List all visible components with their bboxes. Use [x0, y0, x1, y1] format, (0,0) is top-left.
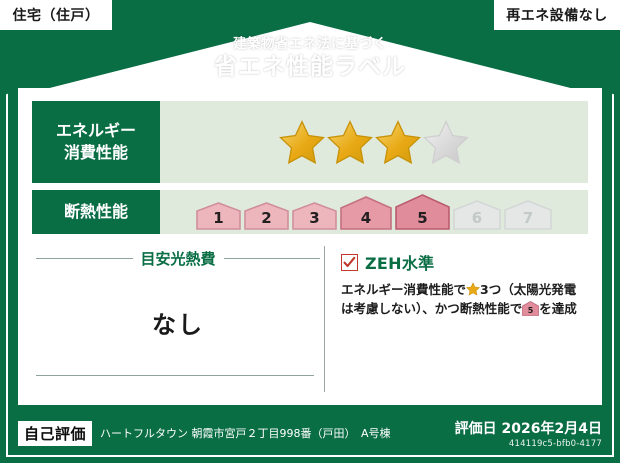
insulation-level-2: 2: [244, 202, 289, 230]
rule-left: [36, 258, 133, 259]
zeh-heading-row: ZEH水準: [341, 250, 584, 274]
page-title: 省エネ性能ラベル: [0, 53, 620, 82]
utility-cost-panel: 目安光熱費 なし: [32, 244, 324, 394]
utility-cost-value: なし: [32, 305, 324, 340]
zeh-desc-star-count: 3つ（太陽光発電: [480, 282, 576, 297]
header-title-block: 建築物省エネ法に基づく 省エネ性能ラベル: [0, 36, 620, 82]
star-rating: [279, 119, 469, 165]
energy-label-line2: 消費性能: [56, 142, 136, 164]
zeh-description: エネルギー消費性能で 3つ（太陽光発電 は考慮しない）、かつ断熱性能で 5 を達…: [341, 280, 584, 319]
badge-dwelling-type: 住宅（住戸）: [0, 0, 112, 30]
insulation-performance-value: 1234567: [160, 190, 588, 234]
zeh-desc-part3: を達成: [539, 301, 577, 316]
energy-performance-value: [160, 101, 588, 183]
evaluation-id: 414119c5-bfb0-4177: [455, 439, 602, 449]
evaluation-date-label: 評価日: [455, 421, 497, 437]
house-shape-icon: [292, 202, 337, 230]
house-shape-icon: [395, 194, 450, 230]
insulation-level-4: 4: [340, 196, 392, 230]
house-shape-icon: [244, 202, 289, 230]
check-icon: [343, 256, 356, 269]
header-subtitle: 建築物省エネ法に基づく: [0, 36, 620, 52]
insulation-level-3: 3: [292, 202, 337, 230]
house-shape-icon: [453, 200, 501, 230]
zeh-panel: ZEH水準 エネルギー消費性能で 3つ（太陽光発電 は考慮しない）、かつ断熱性能…: [325, 244, 588, 394]
zeh-title: ZEH水準: [365, 250, 434, 274]
lower-section: 目安光熱費 なし ZEH水準 エネルギー消費性能で: [32, 244, 588, 394]
house-shape-icon: [196, 202, 241, 230]
rule-right: [224, 258, 321, 259]
house-shape-icon: [504, 200, 552, 230]
energy-performance-label: エネルギー 消費性能: [32, 101, 160, 183]
evaluation-date-value: 2026年2月4日: [502, 421, 602, 437]
evaluation-type-badge: 自己評価: [18, 421, 92, 446]
insulation-level-5: 5: [395, 194, 450, 230]
zeh-checkbox: [341, 254, 358, 271]
badge-renewable-equipment: 再エネ設備なし: [494, 0, 620, 30]
utility-cost-bottom-rule: [36, 375, 314, 376]
energy-performance-row: エネルギー 消費性能: [32, 88, 588, 183]
svg-text:5: 5: [528, 306, 534, 315]
energy-performance-label: 建築物省エネ法に基づく 省エネ性能ラベル 住宅（住戸） 再エネ設備なし エネルギ…: [0, 0, 620, 463]
house-shape-icon: [340, 196, 392, 230]
property-name: ハートフルタウン 朝霞市宮戸２丁目998番（戸田） A号棟: [100, 425, 391, 441]
utility-cost-heading: 目安光熱費: [141, 248, 216, 269]
star-filled-icon: [279, 119, 325, 165]
insulation-performance-label: 断熱性能: [32, 190, 160, 234]
star-empty-icon: [423, 119, 469, 165]
zeh-desc-part2: は考慮しない）、かつ断熱性能で: [341, 301, 522, 316]
inline-star-icon: [466, 282, 480, 296]
star-filled-icon: [327, 119, 373, 165]
insulation-performance-row: 断熱性能 1234567: [32, 183, 588, 234]
inline-house-badge: 5: [522, 301, 539, 316]
label-body-card: エネルギー 消費性能 断熱性能 1234567 目安光熱費: [18, 88, 602, 405]
star-filled-icon: [375, 119, 421, 165]
insulation-level-scale: 1234567: [196, 194, 552, 230]
zeh-desc-part1: エネルギー消費性能で: [341, 282, 466, 297]
insulation-level-1: 1: [196, 202, 241, 230]
evaluation-date: 評価日 2026年2月4日: [455, 421, 602, 437]
footer: 自己評価 ハートフルタウン 朝霞市宮戸２丁目998番（戸田） A号棟 評価日 2…: [0, 405, 620, 463]
energy-label-line1: エネルギー: [56, 120, 136, 142]
insulation-level-6: 6: [453, 200, 501, 230]
insulation-level-7: 7: [504, 200, 552, 230]
utility-cost-heading-row: 目安光熱費: [32, 248, 324, 269]
evaluation-meta: 評価日 2026年2月4日 414119c5-bfb0-4177: [455, 418, 602, 449]
